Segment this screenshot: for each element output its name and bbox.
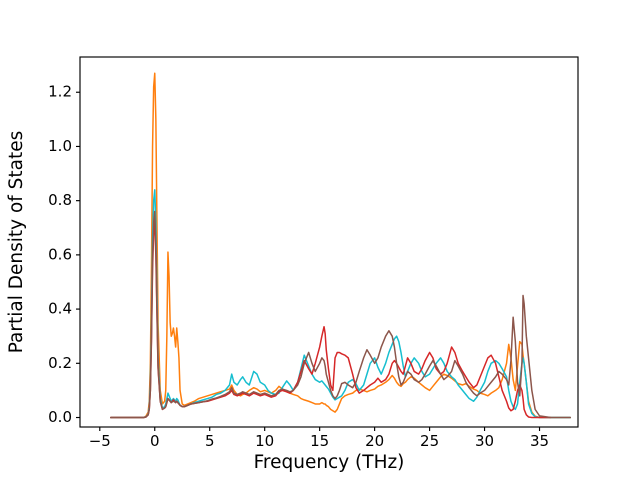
x-tick-label: 5	[205, 432, 215, 450]
y-tick-label: 0.6	[48, 245, 72, 263]
x-tick-label: 20	[365, 432, 384, 450]
series-orange	[111, 73, 571, 417]
y-tick-label: 0.8	[48, 191, 72, 209]
y-axis-label: Partial Density of States	[6, 131, 27, 354]
x-tick-label: 0	[150, 432, 160, 450]
figure-canvas: −5051015202530350.00.20.40.60.81.01.2 Fr…	[0, 0, 640, 480]
x-axis-label: Frequency (THz)	[254, 452, 405, 473]
y-tick-label: 1.2	[48, 83, 72, 101]
x-tick-label: −5	[89, 432, 111, 450]
x-tick-label: 30	[475, 432, 494, 450]
x-tick-label: 35	[530, 432, 549, 450]
x-tick-label: 25	[420, 432, 439, 450]
series-group	[111, 73, 571, 417]
y-tick-label: 0.0	[48, 408, 72, 426]
x-tick-label: 10	[255, 432, 274, 450]
y-tick-label: 1.0	[48, 137, 72, 155]
y-tick-label: 0.4	[48, 300, 72, 318]
tick-group: −5051015202530350.00.20.40.60.81.01.2	[48, 83, 549, 450]
x-tick-label: 15	[310, 432, 329, 450]
pdos-line-chart: −5051015202530350.00.20.40.60.81.01.2 Fr…	[0, 0, 640, 480]
y-tick-label: 0.2	[48, 354, 72, 372]
